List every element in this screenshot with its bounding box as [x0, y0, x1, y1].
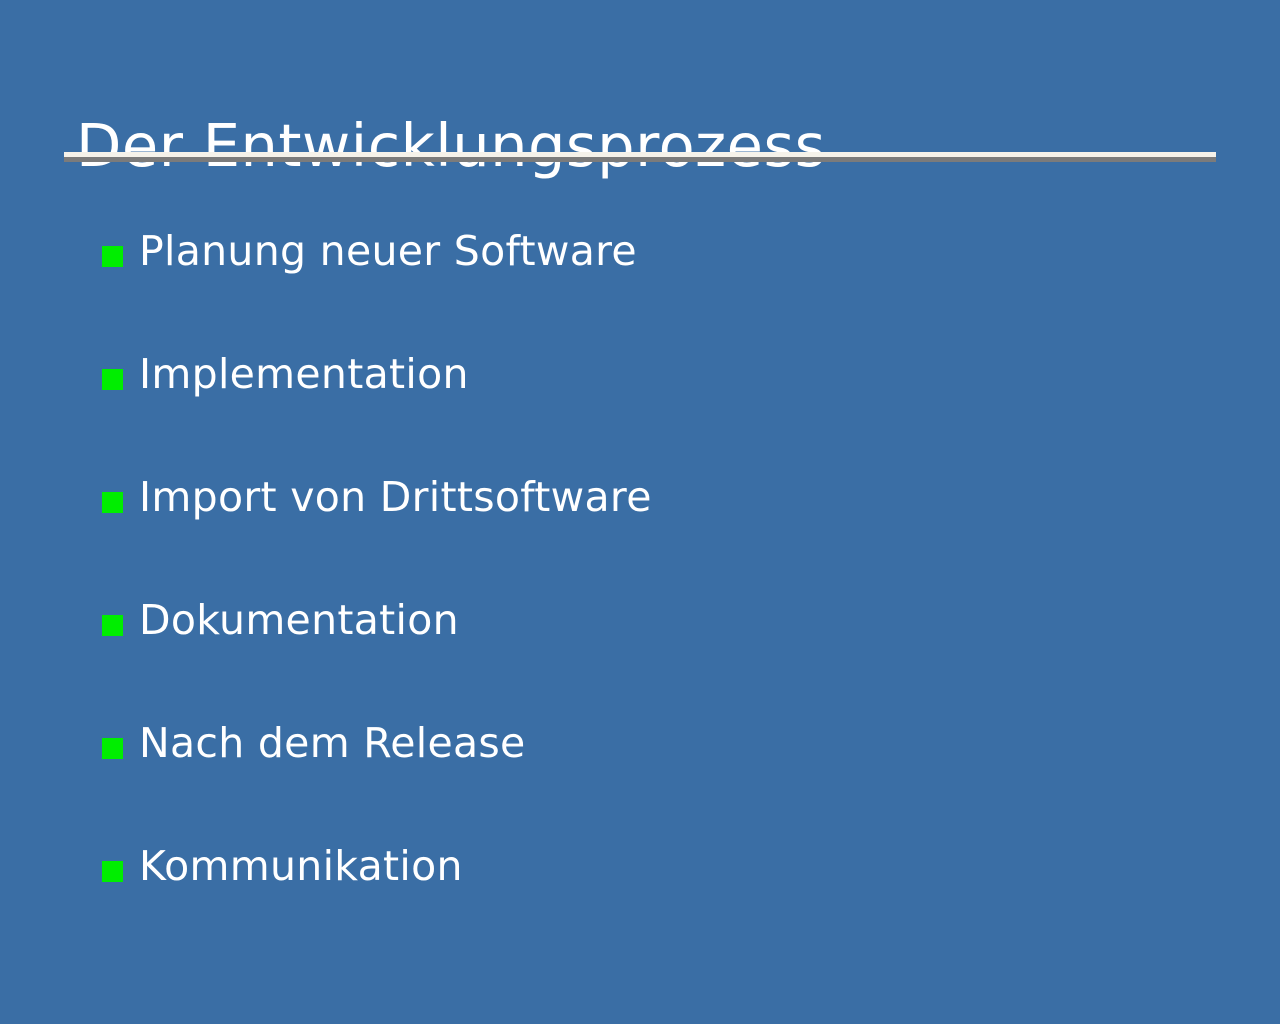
list-item: Kommunikation [102, 843, 1222, 966]
presentation-slide: Der Entwicklungsprozess Planung neuer So… [0, 0, 1280, 1024]
bullet-item-label: Implementation [139, 351, 1222, 398]
slide-bullet-list: Planung neuer Software Implementation Im… [102, 228, 1222, 966]
green-square-bullet-icon [102, 615, 123, 636]
green-square-bullet-icon [102, 369, 123, 390]
slide-title: Der Entwicklungsprozess [76, 114, 1216, 178]
green-square-bullet-icon [102, 738, 123, 759]
bullet-item-label: Nach dem Release [139, 720, 1222, 767]
list-item: Implementation [102, 351, 1222, 474]
bullet-item-label: Kommunikation [139, 843, 1222, 890]
list-item: Dokumentation [102, 597, 1222, 720]
green-square-bullet-icon [102, 492, 123, 513]
green-square-bullet-icon [102, 861, 123, 882]
title-divider-rule [64, 152, 1216, 163]
green-square-bullet-icon [102, 246, 123, 267]
bullet-item-label: Dokumentation [139, 597, 1222, 644]
bullet-item-label: Planung neuer Software [139, 228, 1222, 275]
list-item: Import von Drittsoftware [102, 474, 1222, 597]
list-item: Planung neuer Software [102, 228, 1222, 351]
bullet-item-label: Import von Drittsoftware [139, 474, 1222, 521]
list-item: Nach dem Release [102, 720, 1222, 843]
divider-dark-band [64, 157, 1216, 162]
